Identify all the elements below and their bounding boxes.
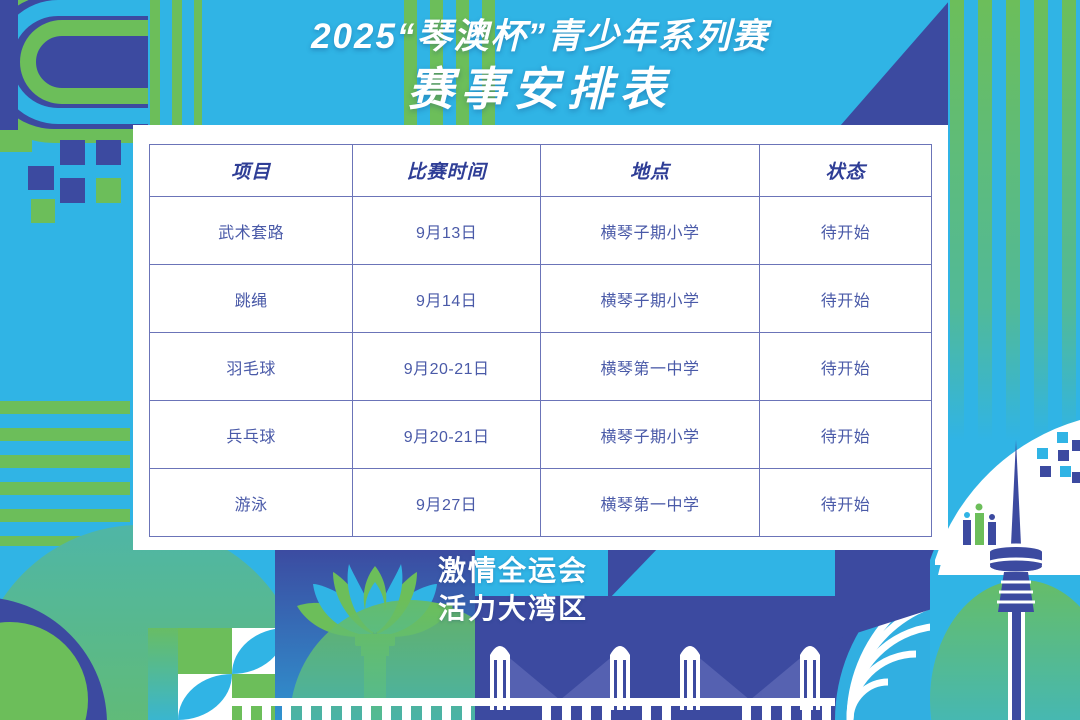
- cell-time: 9月14日: [353, 265, 541, 333]
- schedule-table: 项目 比赛时间 地点 状态 武术套路 9月13日 横琴子期小学 待开始 跳绳 9…: [149, 144, 932, 537]
- cell-venue: 横琴子期小学: [540, 197, 759, 265]
- cell-status: 待开始: [759, 401, 931, 469]
- cell-time: 9月20-21日: [353, 333, 541, 401]
- cell-item: 游泳: [150, 469, 353, 537]
- slogan-line-2: 活力大湾区: [438, 590, 588, 628]
- column-header-item: 项目: [150, 145, 353, 197]
- table-row: 羽毛球 9月20-21日 横琴第一中学 待开始: [150, 333, 932, 401]
- slogan-line-1: 激情全运会: [438, 552, 588, 590]
- cell-time: 9月20-21日: [353, 401, 541, 469]
- top-left-block: [0, 0, 150, 136]
- cell-status: 待开始: [759, 197, 931, 265]
- cell-status: 待开始: [759, 265, 931, 333]
- cell-venue: 横琴第一中学: [540, 469, 759, 537]
- cell-status: 待开始: [759, 469, 931, 537]
- top-left-stripes: [148, 0, 204, 130]
- right-vertical-stripes: [948, 0, 1080, 440]
- cell-item: 跳绳: [150, 265, 353, 333]
- table-row: 兵乓球 9月20-21日 横琴子期小学 待开始: [150, 401, 932, 469]
- poster-canvas: 2025“琴澳杯”青少年系列赛 赛事安排表 项目 比赛时间 地点 状态 武术套路…: [0, 0, 1080, 720]
- cell-time: 9月27日: [353, 469, 541, 537]
- cell-item: 兵乓球: [150, 401, 353, 469]
- cell-venue: 横琴第一中学: [540, 333, 759, 401]
- column-header-time: 比赛时间: [353, 145, 541, 197]
- column-header-venue: 地点: [540, 145, 759, 197]
- bottom-left-green-wedge: [148, 628, 178, 720]
- cell-venue: 横琴子期小学: [540, 265, 759, 333]
- table-row: 武术套路 9月13日 横琴子期小学 待开始: [150, 197, 932, 265]
- cell-venue: 横琴子期小学: [540, 401, 759, 469]
- schedule-panel: 项目 比赛时间 地点 状态 武术套路 9月13日 横琴子期小学 待开始 跳绳 9…: [133, 125, 948, 550]
- cell-time: 9月13日: [353, 197, 541, 265]
- cell-item: 羽毛球: [150, 333, 353, 401]
- table-header-row: 项目 比赛时间 地点 状态: [150, 145, 932, 197]
- slogan: 激情全运会 活力大湾区: [438, 552, 588, 628]
- column-header-status: 状态: [759, 145, 931, 197]
- cell-item: 武术套路: [150, 197, 353, 265]
- table-row: 游泳 9月27日 横琴第一中学 待开始: [150, 469, 932, 537]
- table-row: 跳绳 9月14日 横琴子期小学 待开始: [150, 265, 932, 333]
- cell-status: 待开始: [759, 333, 931, 401]
